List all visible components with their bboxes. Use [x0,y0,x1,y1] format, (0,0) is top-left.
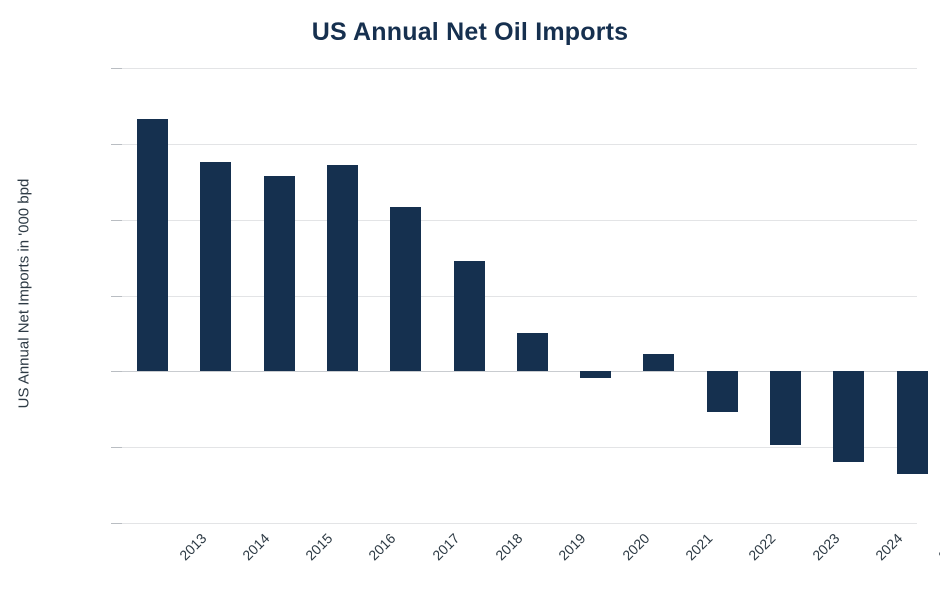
x-tick-label: 2018 [492,530,525,563]
x-tick-label: 2016 [366,530,399,563]
y-tick-mark [111,296,122,297]
bar [580,371,611,378]
bar-chart: US Annual Net Oil Imports US Annual Net … [0,0,940,600]
bar [390,207,421,371]
bar [200,162,231,371]
bar [327,165,358,372]
x-tick-label: 2014 [239,530,272,563]
y-tick-mark [111,523,122,524]
x-tick-label: 2015 [302,530,335,563]
gridline [122,220,917,221]
bar [833,371,864,462]
x-tick-label: 2017 [429,530,462,563]
x-tick-label: 2021 [682,530,715,563]
bar [264,176,295,371]
x-tick-label: 2024 [872,530,905,563]
y-tick-mark [111,144,122,145]
bar [643,354,674,372]
gridline [122,144,917,145]
gridline [122,68,917,69]
y-tick-mark [111,220,122,221]
bar [770,371,801,445]
y-tick-mark [111,371,122,372]
x-tick-label: 2025 [935,530,940,563]
bar [137,119,168,371]
bar [897,371,928,473]
y-tick-mark [111,447,122,448]
gridline [122,523,917,524]
x-tick-label: 2022 [745,530,778,563]
gridline [122,447,917,448]
y-axis-title: US Annual Net Imports in '000 bpd [16,84,33,504]
bar [454,261,485,372]
bar [707,371,738,412]
plot-area: 8,0006,0004,0002,0000-2,000-4,000 201320… [122,68,917,523]
x-tick-label: 2019 [555,530,588,563]
y-tick-mark [111,68,122,69]
chart-title: US Annual Net Oil Imports [0,18,940,47]
gridline [122,296,917,297]
x-tick-label: 2023 [809,530,842,563]
x-tick-label: 2013 [176,530,209,563]
bar [517,333,548,372]
x-tick-label: 2020 [619,530,652,563]
